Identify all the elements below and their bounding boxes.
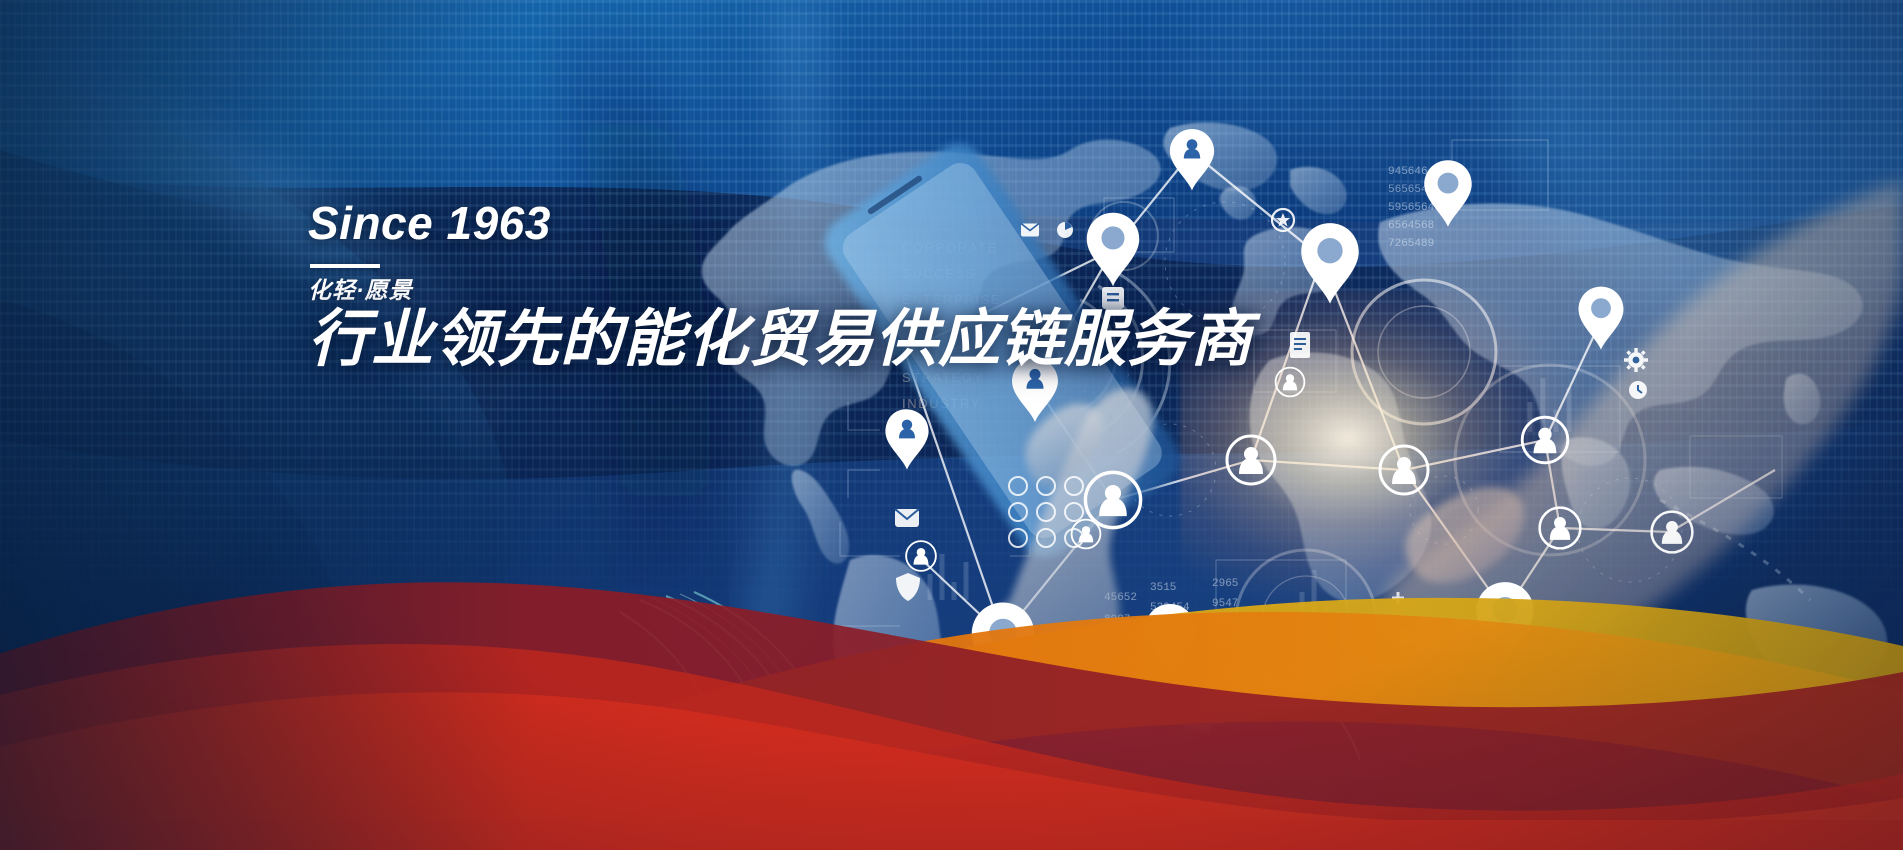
hero-text-block: Since 1963 化轻·愿景 行业领先的能化贸易供应链服务商 [308,200,1253,374]
since-label: Since 1963 [308,200,1253,246]
wave-ribbons [0,0,1903,850]
page-title: 行业领先的能化贸易供应链服务商 [308,307,1253,374]
hero-banner: 5956564 6564568 7265489 565654 945646 35… [0,0,1903,850]
hero-divider [310,264,380,268]
vision-label: 化轻·愿景 [308,278,1253,303]
